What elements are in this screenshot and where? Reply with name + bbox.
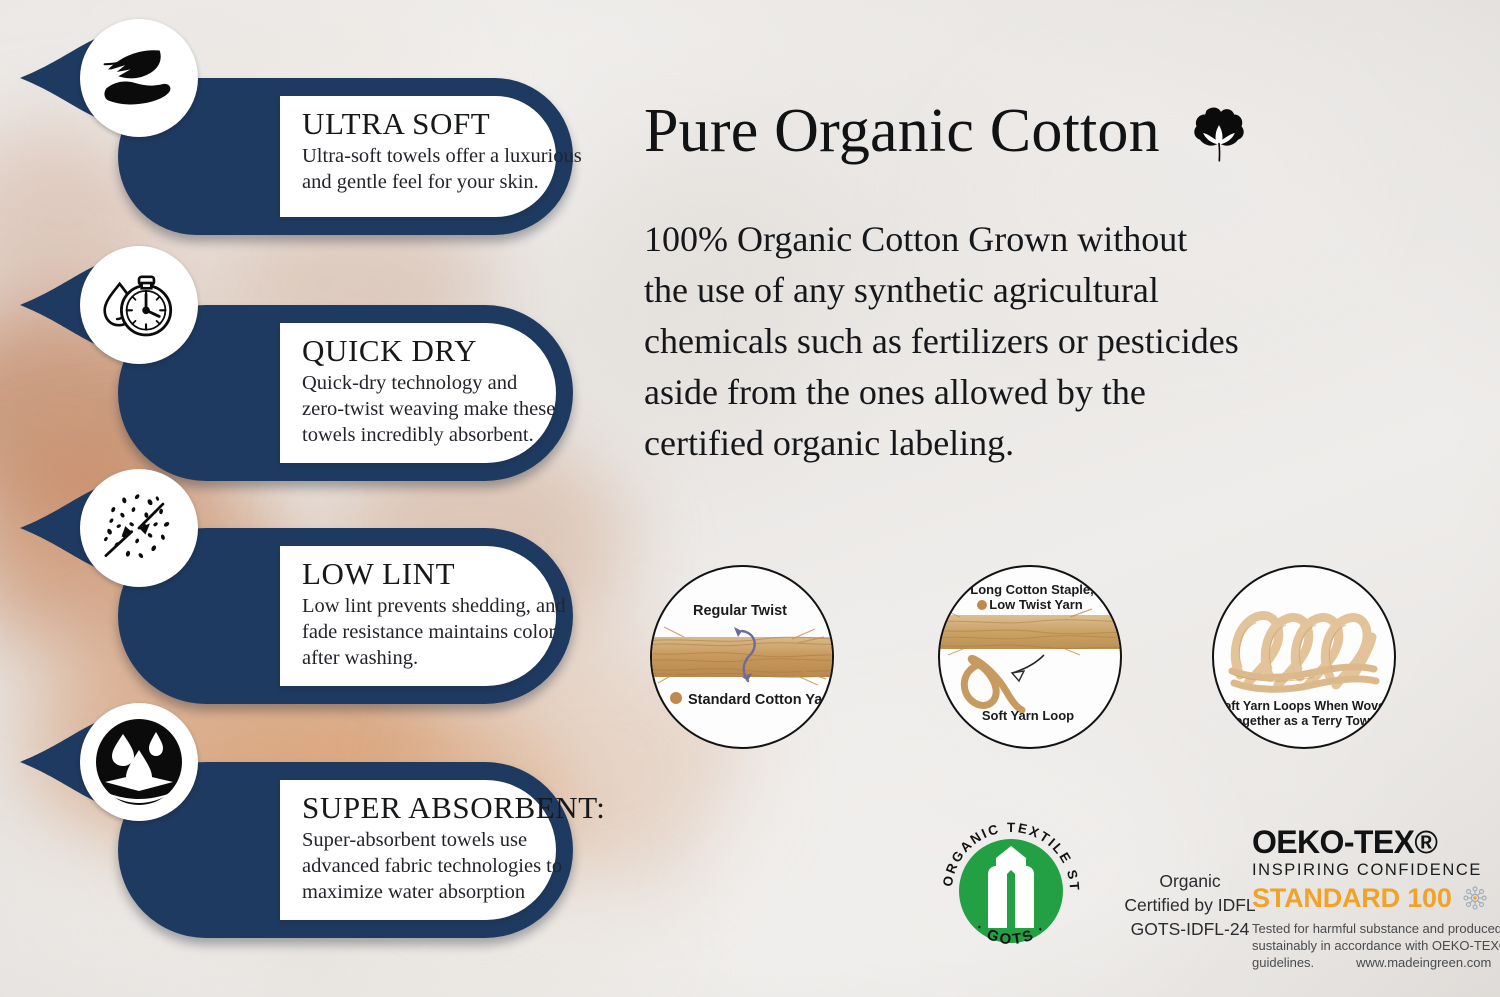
svg-text:Soft Yarn Loop: Soft Yarn Loop: [982, 708, 1074, 723]
feature-desc-line: Super-absorbent towels use: [302, 827, 528, 853]
oeko-fine-line: sustainably in accordance with OEKO-TEX®: [1252, 937, 1500, 954]
svg-text:Standard Cotton Yarn: Standard Cotton Yarn: [688, 692, 832, 708]
feature-desc-line: Quick-dry technology and: [302, 370, 528, 396]
right-column: Pure Organic Cotton 100% Organic Cotton …: [640, 0, 1500, 997]
body-paragraph: 100% Organic Cotton Grown without the us…: [644, 214, 1484, 470]
gots-text-line: GOTS-IDFL-24: [1110, 918, 1270, 942]
oeko-tex-tagline: INSPIRING CONFIDENCE: [1252, 862, 1500, 879]
droplet-stopwatch-icon: [80, 246, 198, 364]
gots-text-line: Organic: [1110, 870, 1270, 894]
lint-particles-icon: [80, 469, 198, 587]
oeko-tex-flower-icon: [1462, 885, 1488, 911]
feature-title: ULTRA SOFT: [302, 108, 528, 140]
feature-desc-line: maximize water absorption: [302, 879, 528, 905]
oeko-tex-fine-print: Tested for harmful substance and produce…: [1252, 920, 1500, 972]
oeko-tex-logo: OEKO-TEX® INSPIRING CONFIDENCE STANDARD …: [1252, 826, 1500, 971]
body-line: chemicals such as fertilizers or pestici…: [644, 316, 1484, 367]
feature-description: Ultra-soft towels offer a luxurious and …: [302, 143, 528, 195]
yarn-diagram-regular-twist: Regular Twist Standard Cotton Yarn: [650, 565, 834, 749]
feature-desc-line: fade resistance maintains color: [302, 619, 528, 645]
feature-description: Super-absorbent towels use advanced fabr…: [302, 827, 528, 905]
water-absorption-fabric-icon: [80, 703, 198, 821]
feature-text-card: ULTRA SOFT Ultra-soft towels offer a lux…: [280, 96, 556, 217]
feature-desc-line: and gentle feel for your skin.: [302, 169, 528, 195]
oeko-tex-standard-row: STANDARD 100: [1252, 885, 1500, 912]
feather-on-hand-icon: [80, 19, 198, 137]
oeko-tex-standard: STANDARD 100: [1252, 885, 1452, 912]
feature-text-card: LOW LINT Low lint prevents shedding, and…: [280, 546, 556, 686]
feature-desc-line: zero-twist weaving make these: [302, 396, 528, 422]
body-line: aside from the ones allowed by the: [644, 367, 1484, 418]
feature-title: LOW LINT: [302, 558, 528, 590]
body-line: the use of any synthetic agricultural: [644, 265, 1484, 316]
certification-row: GLOBAL ORGANIC TEXTILE STANDARD · GOTS ·…: [640, 808, 1500, 988]
feature-text-card: QUICK DRY Quick-dry technology and zero-…: [280, 323, 556, 463]
feature-title: SUPER ABSORBENT:: [302, 792, 528, 824]
yarn-diagram-group: Regular Twist Standard Cotton Yarn: [640, 565, 1500, 750]
svg-text:Together as a Terry Towel: Together as a Terry Towel: [1228, 714, 1380, 728]
oeko-fine-guidelines: guidelines.: [1252, 954, 1314, 971]
feature-description: Low lint prevents shedding, and fade res…: [302, 593, 528, 671]
yarn-diagram-low-twist: Long Cotton Staple, Low Twist Yarn Soft …: [938, 565, 1122, 749]
feature-desc-line: Ultra-soft towels offer a luxurious: [302, 143, 528, 169]
gots-logo: GLOBAL ORGANIC TEXTILE STANDARD · GOTS ·: [936, 816, 1086, 966]
feature-desc-line: advanced fabric technologies to: [302, 853, 528, 879]
feature-desc-line: towels incredibly absorbent.: [302, 422, 528, 448]
svg-text:Soft Yarn Loops When Woven: Soft Yarn Loops When Woven: [1215, 699, 1392, 713]
gots-certification-text: Organic Certified by IDFL GOTS-IDFL-24: [1110, 870, 1270, 942]
oeko-fine-last-row: guidelines. www.madeingreen.com: [1252, 954, 1500, 971]
feature-list: ULTRA SOFT Ultra-soft towels offer a lux…: [0, 0, 600, 997]
page-title: Pure Organic Cotton: [644, 100, 1160, 162]
cotton-boll-icon: [1186, 100, 1252, 166]
headline-row: Pure Organic Cotton: [644, 96, 1252, 166]
feature-desc-line: after washing.: [302, 645, 528, 671]
feature-desc-line: Low lint prevents shedding, and: [302, 593, 528, 619]
svg-text:Long Cotton Staple,: Long Cotton Staple,: [970, 582, 1093, 597]
body-line: 100% Organic Cotton Grown without: [644, 214, 1484, 265]
svg-text:Low Twist Yarn: Low Twist Yarn: [989, 597, 1082, 612]
gots-text-line: Certified by IDFL: [1110, 894, 1270, 918]
body-line: certified organic labeling.: [644, 418, 1484, 469]
feature-title: QUICK DRY: [302, 335, 528, 367]
oeko-tex-brand: OEKO-TEX®: [1252, 826, 1500, 858]
svg-text:Regular Twist: Regular Twist: [693, 603, 787, 619]
yarn-diagram-terry-loops: Soft Yarn Loops When Woven Together as a…: [1212, 565, 1396, 749]
oeko-fine-line: Tested for harmful substance and produce…: [1252, 920, 1500, 937]
feature-description: Quick-dry technology and zero-twist weav…: [302, 370, 528, 448]
feature-text-card: SUPER ABSORBENT: Super-absorbent towels …: [280, 780, 556, 920]
oeko-tex-website: www.madeingreen.com: [1356, 954, 1491, 971]
